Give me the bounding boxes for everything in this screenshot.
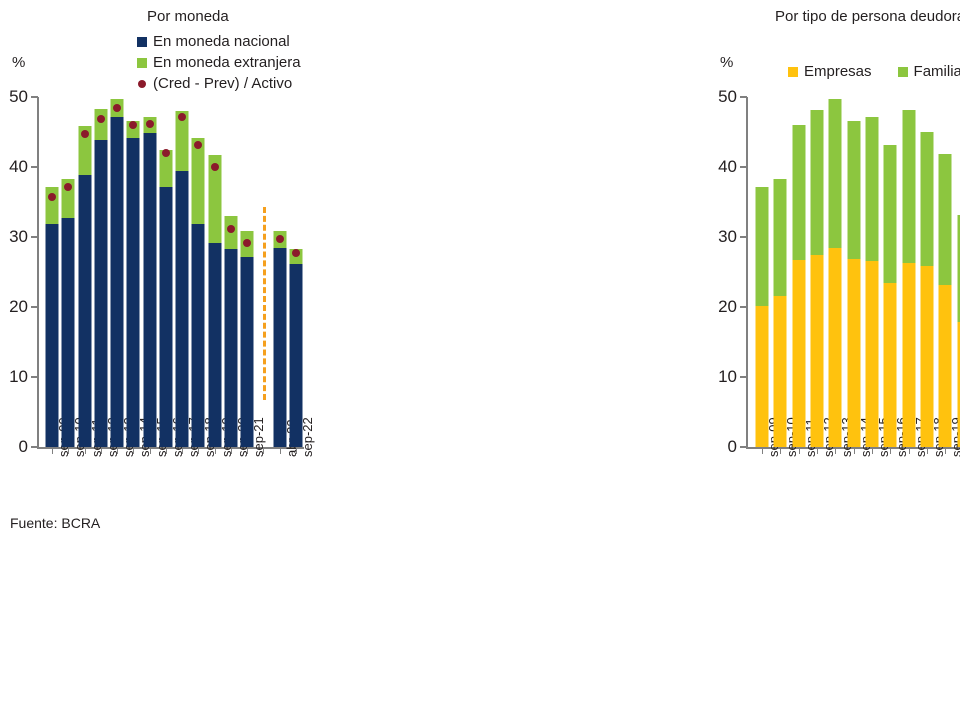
y-tick-label: 10 <box>703 368 737 385</box>
stacked-bar[interactable] <box>939 154 952 447</box>
legend-swatch-icon <box>137 58 147 68</box>
x-tick <box>296 448 297 454</box>
bar-group[interactable]: sep-10 <box>771 97 789 447</box>
overlay-data-point[interactable] <box>81 130 89 138</box>
overlay-data-point[interactable] <box>292 249 300 257</box>
chart-figure: Por moneda En moneda nacional En moneda … <box>0 0 960 720</box>
bar-group[interactable]: sep-11 <box>77 97 93 447</box>
bar-group[interactable]: sep-15 <box>863 97 881 447</box>
legend-item-cred-prev-activo[interactable]: (Cred - Prev) / Activo <box>137 73 301 94</box>
bar-group[interactable]: sep-10 <box>60 97 76 447</box>
bar-segment[interactable] <box>62 218 75 447</box>
legend-label: En moneda nacional <box>153 34 290 49</box>
stacked-bar[interactable] <box>176 111 189 447</box>
overlay-data-point[interactable] <box>64 183 72 191</box>
x-tick <box>890 448 891 454</box>
stacked-bar[interactable] <box>902 110 915 447</box>
bar-segment[interactable] <box>774 179 787 296</box>
bar-segment[interactable] <box>159 187 172 447</box>
bar-segment[interactable] <box>273 248 286 447</box>
bar-group[interactable]: sep-18 <box>918 97 936 447</box>
y-tick-label: 50 <box>703 88 737 105</box>
stacked-bar[interactable] <box>224 216 237 447</box>
y-tick-label: 20 <box>0 298 28 315</box>
stacked-bar[interactable] <box>866 117 879 447</box>
bar-group[interactable]: sep-21 <box>239 97 255 447</box>
bar-segment[interactable] <box>939 154 952 285</box>
bar-group[interactable]: sep-16 <box>158 97 174 447</box>
bar-group[interactable]: sep-09 <box>753 97 771 447</box>
y-tick <box>31 376 38 378</box>
x-tick <box>835 448 836 454</box>
bar-group[interactable]: sep-15 <box>142 97 158 447</box>
stacked-bar[interactable] <box>143 117 156 447</box>
y-tick-label: 50 <box>0 88 28 105</box>
x-tick <box>817 448 818 454</box>
y-axis-line <box>746 97 748 447</box>
bar-segment[interactable] <box>94 140 107 447</box>
stacked-bar[interactable] <box>829 99 842 447</box>
bar-segment[interactable] <box>866 117 879 260</box>
bar-group[interactable]: sep-17 <box>900 97 918 447</box>
stacked-bar[interactable] <box>847 121 860 447</box>
bar-group[interactable]: sep-14 <box>125 97 141 447</box>
bar-group[interactable]: sep-17 <box>174 97 190 447</box>
bar-group[interactable]: sep-18 <box>190 97 206 447</box>
x-tick <box>182 448 183 454</box>
plot-area-left: 01020304050 sep-09sep-10sep-11sep-12sep-… <box>44 97 304 447</box>
legend-label: Familias <box>914 64 960 79</box>
legend-swatch-icon <box>898 67 908 77</box>
overlay-data-point[interactable] <box>113 104 121 112</box>
overlay-data-point[interactable] <box>194 141 202 149</box>
y-axis-unit-right: % <box>720 54 733 71</box>
bar-group[interactable]: sep-13 <box>109 97 125 447</box>
x-tick <box>52 448 53 454</box>
legend-swatch-icon <box>788 67 798 77</box>
y-tick-label: 0 <box>703 438 737 455</box>
stacked-bar[interactable] <box>920 132 933 447</box>
y-tick-label: 20 <box>703 298 737 315</box>
stacked-bar[interactable] <box>94 109 107 447</box>
overlay-data-point[interactable] <box>276 235 284 243</box>
y-tick <box>31 96 38 98</box>
bar-group[interactable]: sep-16 <box>881 97 899 447</box>
stacked-bar[interactable] <box>273 231 286 447</box>
bar-segment[interactable] <box>127 138 140 447</box>
y-tick <box>31 166 38 168</box>
bar-segment[interactable] <box>192 138 205 223</box>
x-tick <box>854 448 855 454</box>
stacked-bar[interactable] <box>756 187 769 447</box>
overlay-data-point[interactable] <box>178 113 186 121</box>
legend-label: (Cred - Prev) / Activo <box>153 76 292 91</box>
legend-left: En moneda nacional En moneda extranjera … <box>137 31 301 94</box>
bar-segment[interactable] <box>920 132 933 266</box>
bar-group[interactable]: sep-20 <box>954 97 960 447</box>
stacked-bar[interactable] <box>78 126 91 447</box>
bar-segment[interactable] <box>111 117 124 447</box>
bar-segment[interactable] <box>756 187 769 306</box>
x-tick <box>247 448 248 454</box>
bars-right: sep-09sep-10sep-11sep-12sep-13sep-14sep-… <box>753 97 960 447</box>
x-tick <box>280 448 281 454</box>
stacked-bar[interactable] <box>241 231 254 447</box>
legend-item-familias[interactable]: Familias <box>898 61 960 82</box>
bar-group[interactable]: sep-12 <box>93 97 109 447</box>
stacked-bar[interactable] <box>127 121 140 447</box>
y-tick-label: 10 <box>0 368 28 385</box>
x-tick <box>68 448 69 454</box>
stacked-bar[interactable] <box>774 179 787 447</box>
overlay-data-point[interactable] <box>146 120 154 128</box>
y-tick <box>31 306 38 308</box>
bar-group[interactable]: sep-22 <box>288 97 304 447</box>
overlay-data-point[interactable] <box>211 163 219 171</box>
legend-item-moneda-nacional[interactable]: En moneda nacional <box>137 31 301 52</box>
stacked-bar[interactable] <box>159 150 172 447</box>
panel-title-left: Por moneda <box>147 8 229 25</box>
legend-label: Empresas <box>804 64 872 79</box>
bar-segment[interactable] <box>902 110 915 263</box>
source-note: Fuente: BCRA <box>10 515 100 531</box>
x-tick <box>150 448 151 454</box>
bar-segment[interactable] <box>192 224 205 447</box>
bar-segment[interactable] <box>884 145 897 284</box>
x-tick-label: sep-22 <box>301 417 314 457</box>
y-tick <box>740 306 747 308</box>
bar-group[interactable]: sep-09 <box>44 97 60 447</box>
y-tick-label: 40 <box>703 158 737 175</box>
stacked-bar[interactable] <box>111 99 124 447</box>
legend-swatch-icon <box>137 37 147 47</box>
overlay-data-point[interactable] <box>162 149 170 157</box>
bar-segment[interactable] <box>847 121 860 260</box>
y-tick <box>740 376 747 378</box>
overlay-data-point[interactable] <box>48 193 56 201</box>
stacked-bar[interactable] <box>811 110 824 447</box>
legend-label: En moneda extranjera <box>153 55 301 70</box>
x-tick <box>909 448 910 454</box>
overlay-data-point[interactable] <box>97 115 105 123</box>
panel-title-right: Por tipo de persona deudora <box>775 8 960 25</box>
bar-segment[interactable] <box>829 99 842 247</box>
x-tick <box>198 448 199 454</box>
bar-group[interactable]: sep-20 <box>223 97 239 447</box>
legend-item-empresas[interactable]: Empresas <box>788 61 872 82</box>
stacked-bar[interactable] <box>792 125 805 447</box>
bar-group[interactable]: sep-12 <box>808 97 826 447</box>
y-tick-label: 40 <box>0 158 28 175</box>
y-tick-label: 30 <box>0 228 28 245</box>
x-tick <box>215 448 216 454</box>
bars-left: sep-09sep-10sep-11sep-12sep-13sep-14sep-… <box>44 97 304 447</box>
y-tick <box>740 236 747 238</box>
x-tick <box>945 448 946 454</box>
x-tick <box>166 448 167 454</box>
overlay-data-point[interactable] <box>129 121 137 129</box>
y-tick <box>740 166 747 168</box>
bar-group[interactable]: sep-13 <box>826 97 844 447</box>
x-tick <box>799 448 800 454</box>
bar-segment[interactable] <box>94 109 107 140</box>
x-tick <box>101 448 102 454</box>
stacked-bar[interactable] <box>192 138 205 447</box>
bar-group[interactable]: sep-19 <box>207 97 223 447</box>
y-tick-label: 0 <box>0 438 28 455</box>
bar-segment[interactable] <box>78 175 91 447</box>
x-tick <box>263 448 264 454</box>
x-tick <box>85 448 86 454</box>
legend-dot-icon <box>138 80 146 88</box>
plot-area-right: 01020304050 sep-09sep-10sep-11sep-12sep-… <box>753 97 960 447</box>
x-tick <box>231 448 232 454</box>
bar-segment[interactable] <box>811 110 824 255</box>
bar-group[interactable]: abr-22 <box>272 97 288 447</box>
panel-por-moneda: Por moneda En moneda nacional En moneda … <box>0 0 380 560</box>
overlay-data-point[interactable] <box>227 225 235 233</box>
stacked-bar[interactable] <box>46 187 59 447</box>
x-tick <box>780 448 781 454</box>
y-tick <box>740 446 747 448</box>
y-tick-label: 30 <box>703 228 737 245</box>
bar-segment[interactable] <box>46 224 59 447</box>
x-tick <box>872 448 873 454</box>
bar-group[interactable]: sep-19 <box>936 97 954 447</box>
panel-por-tipo-persona: Por tipo de persona deudora Empresas Fam… <box>360 0 720 560</box>
bar-group[interactable]: sep-11 <box>790 97 808 447</box>
bar-segment[interactable] <box>176 171 189 447</box>
y-axis-unit-left: % <box>12 54 25 71</box>
bar-segment[interactable] <box>143 133 156 447</box>
bar-segment[interactable] <box>792 125 805 260</box>
overlay-data-point[interactable] <box>243 239 251 247</box>
legend-item-moneda-extranjera[interactable]: En moneda extranjera <box>137 52 301 73</box>
bar-group[interactable]: sep-14 <box>845 97 863 447</box>
x-tick <box>133 448 134 454</box>
x-tick <box>762 448 763 454</box>
stacked-bar[interactable] <box>884 145 897 447</box>
y-tick <box>31 446 38 448</box>
proyeccion-divider <box>263 207 266 400</box>
y-tick <box>31 236 38 238</box>
y-axis-line <box>37 97 39 447</box>
x-tick <box>927 448 928 454</box>
stacked-bar[interactable] <box>62 179 75 447</box>
legend-right: Empresas Familias <box>788 61 960 82</box>
stacked-bar[interactable] <box>208 155 221 447</box>
y-tick <box>740 96 747 98</box>
x-tick <box>117 448 118 454</box>
